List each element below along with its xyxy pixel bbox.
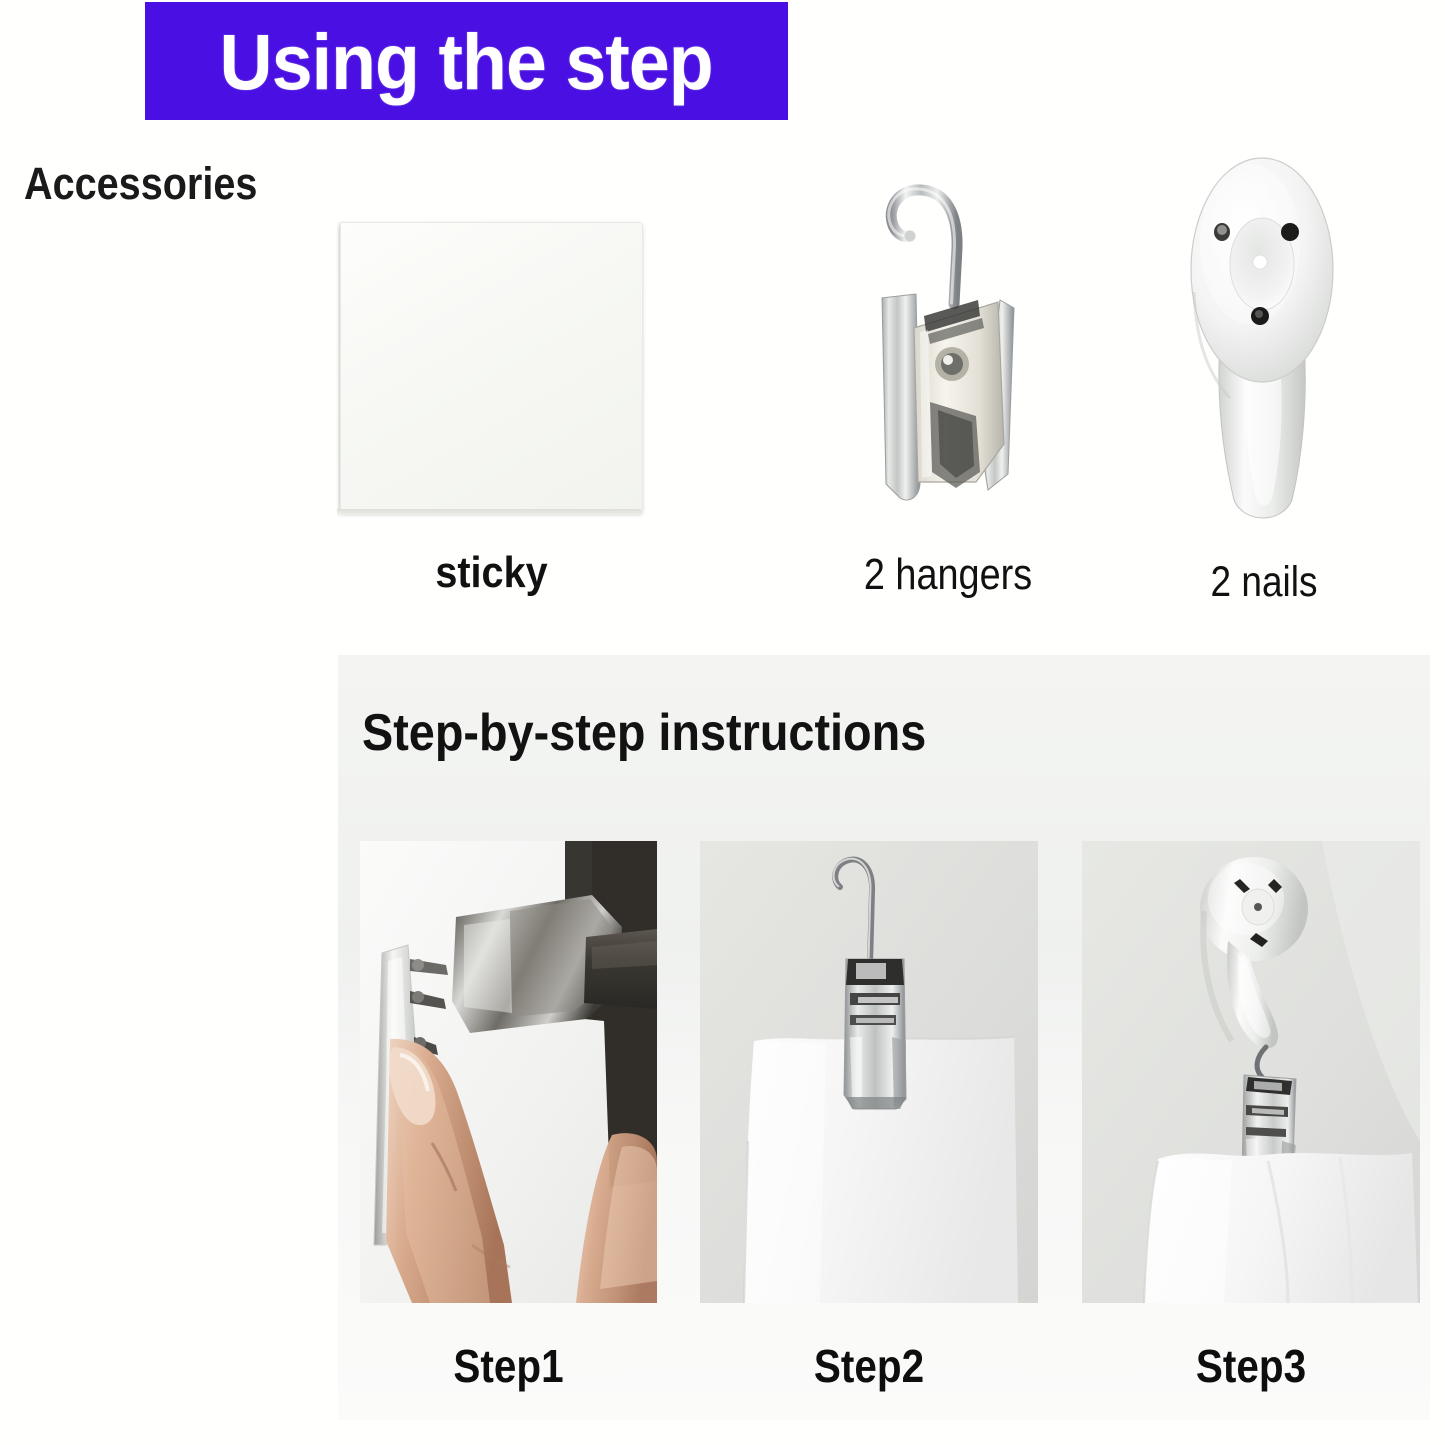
instructions-heading: Step-by-step instructions: [362, 703, 926, 763]
hammering-nails-into-hook-illustration: [360, 841, 657, 1303]
step-1-photo: [360, 841, 657, 1303]
accessories-section-label: Accessories: [24, 158, 257, 210]
accessory-caption-sticky: sticky: [355, 548, 628, 598]
mounted-hook-with-clip-and-towel-illustration: [1082, 841, 1420, 1303]
hanger-clip-svg: [858, 152, 1038, 520]
sticky-pad-icon: [340, 222, 643, 512]
sticky-pad-shape: [340, 222, 643, 512]
instructions-panel: Step-by-step instructions: [338, 655, 1430, 1420]
step-1-caption: Step1: [378, 1339, 639, 1393]
step-3-caption: Step3: [1102, 1339, 1399, 1393]
page-title: Using the step: [220, 22, 713, 101]
title-banner: Using the step: [145, 2, 788, 120]
step-2-caption: Step2: [720, 1339, 1017, 1393]
accessory-caption-nails: 2 nails: [1178, 558, 1350, 607]
step-3-photo: [1082, 841, 1420, 1303]
wall-hook-svg: [1186, 152, 1338, 520]
clip-hanger-holding-towel-illustration: [700, 841, 1038, 1303]
step-2-photo: [700, 841, 1038, 1303]
accessory-caption-hangers: 2 hangers: [853, 550, 1042, 600]
product-instruction-infographic: Using the step Accessories sticky: [0, 0, 1445, 1445]
wall-hook-nail-icon: [1186, 152, 1338, 520]
hanger-clip-icon: [858, 152, 1038, 520]
